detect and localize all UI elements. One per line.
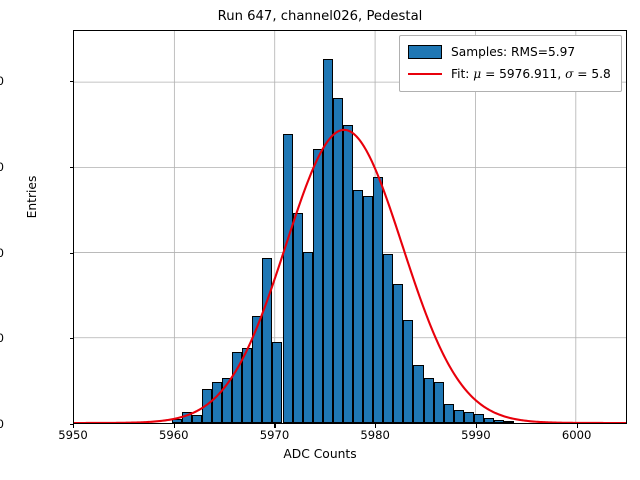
y-tick-label: 800: [0, 74, 4, 88]
fit-path: [74, 130, 626, 423]
legend-label-fit: Fit: μ = 5976.911, σ = 5.8: [451, 67, 611, 81]
x-tick-mark: [577, 424, 578, 428]
legend-fit-prefix: Fit:: [451, 67, 473, 81]
legend-fit-mu-value: = 5976.911,: [481, 67, 565, 81]
y-tick-label: 600: [0, 160, 4, 174]
y-axis-label: Entries: [25, 0, 39, 397]
x-tick-label: 5980: [335, 428, 415, 442]
y-tick-mark: [70, 81, 74, 82]
x-tick-mark: [73, 424, 74, 428]
y-tick-mark: [70, 338, 74, 339]
legend-swatch-samples: [408, 44, 442, 60]
x-tick-label: 5950: [33, 428, 113, 442]
legend-swatch-fit: [408, 66, 442, 82]
x-tick-label: 6000: [537, 428, 617, 442]
x-tick-mark: [174, 424, 175, 428]
legend: Samples: RMS=5.97 Fit: μ = 5976.911, σ =…: [399, 35, 622, 92]
x-tick-label: 5970: [234, 428, 314, 442]
x-tick-label: 5990: [436, 428, 516, 442]
y-tick-label: 400: [0, 246, 4, 260]
x-tick-mark: [375, 424, 376, 428]
x-tick-mark: [476, 424, 477, 428]
y-tick-label: 200: [0, 331, 4, 345]
y-tick-mark: [70, 167, 74, 168]
chart-title: Run 647, channel026, Pedestal: [0, 9, 640, 24]
x-tick-mark: [274, 424, 275, 428]
x-axis-label: ADC Counts: [0, 447, 640, 461]
y-tick-mark: [70, 253, 74, 254]
legend-fit-sigma-value: = 5.8: [573, 67, 610, 81]
legend-item-samples: Samples: RMS=5.97: [408, 41, 613, 63]
legend-label-samples: Samples: RMS=5.97: [451, 45, 575, 59]
legend-fit-mu-symbol: μ: [473, 67, 481, 81]
x-tick-label: 5960: [134, 428, 214, 442]
figure: Run 647, channel026, Pedestal Entries AD…: [0, 0, 640, 480]
y-tick-label: 0: [0, 417, 4, 431]
legend-item-fit: Fit: μ = 5976.911, σ = 5.8: [408, 63, 613, 85]
